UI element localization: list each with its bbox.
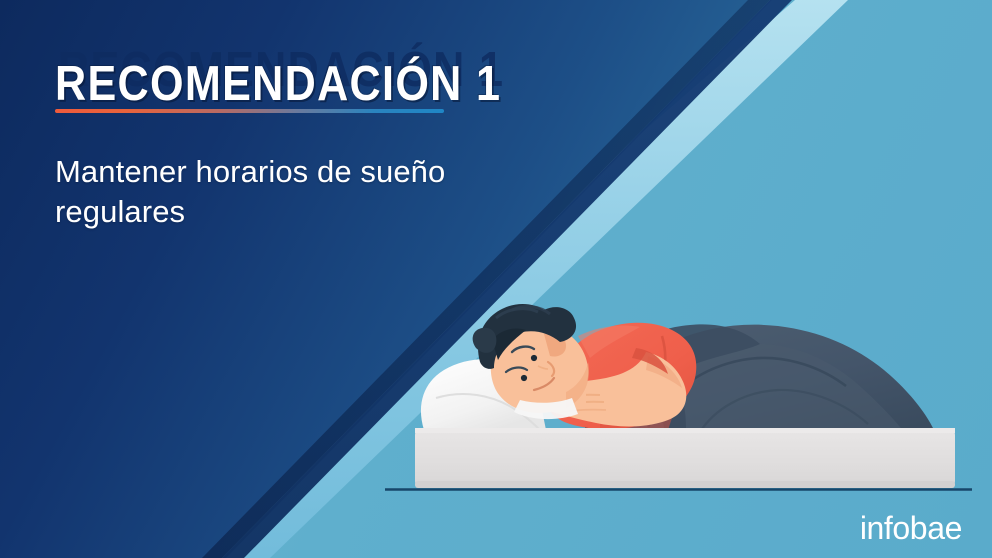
headline-text: RECOMENDACIÓN 1	[55, 60, 501, 109]
headline-block: RECOMENDACIÓN 1 RECOMENDACIÓN 1	[55, 48, 615, 110]
headline: RECOMENDACIÓN 1 RECOMENDACIÓN 1	[55, 48, 615, 110]
subtitle-text: Mantener horarios de sueño regulares	[55, 152, 525, 231]
infobae-logo: infobae	[860, 512, 962, 544]
headline-underline-rule	[55, 109, 444, 113]
social-card-canvas: RECOMENDACIÓN 1 RECOMENDACIÓN 1 Mantener…	[0, 0, 992, 558]
mattress	[415, 428, 955, 488]
